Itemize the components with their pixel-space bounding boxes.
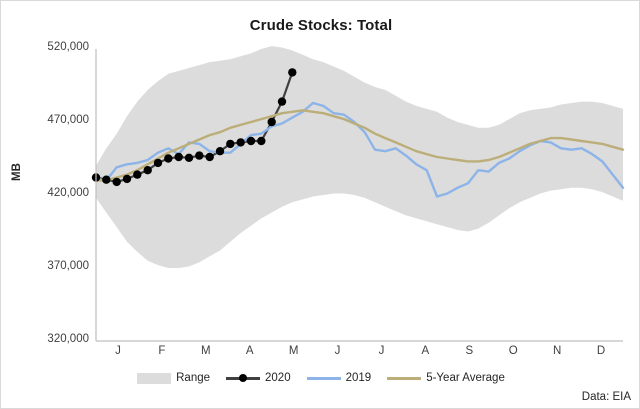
data-point-marker-2020 bbox=[175, 153, 183, 161]
legend-marker-dot bbox=[239, 374, 247, 382]
data-point-marker-2020 bbox=[113, 178, 121, 186]
data-point-marker-2020 bbox=[195, 151, 203, 159]
data-point-marker-2020 bbox=[164, 154, 172, 162]
data-point-marker-2020 bbox=[237, 138, 245, 146]
chart-legend: Range202020195-Year Average bbox=[1, 372, 640, 384]
legend-label: 2019 bbox=[346, 372, 372, 384]
x-axis-tick-label: A bbox=[413, 345, 437, 357]
x-axis-tick-label: S bbox=[457, 345, 481, 357]
data-point-marker-2020 bbox=[268, 118, 276, 126]
legend-item-2019[interactable]: 2019 bbox=[307, 372, 372, 384]
legend-swatch-line-marker-swatch bbox=[226, 372, 260, 384]
data-point-marker-2020 bbox=[288, 68, 296, 76]
data-point-marker-2020 bbox=[154, 159, 162, 167]
legend-swatch-range-swatch bbox=[137, 372, 171, 384]
legend-swatch-line-swatch bbox=[307, 372, 341, 384]
chart-container: Crude Stocks: Total 320,000370,000420,00… bbox=[0, 0, 640, 409]
data-point-marker-2020 bbox=[257, 137, 265, 145]
x-axis-tick-label: O bbox=[501, 345, 525, 357]
data-source-note: Data: EIA bbox=[582, 391, 631, 403]
legend-swatch-line-swatch bbox=[387, 372, 421, 384]
x-axis-tick-label: J bbox=[106, 345, 130, 357]
legend-item-range[interactable]: Range bbox=[137, 372, 210, 384]
x-axis-tick-label: M bbox=[194, 345, 218, 357]
legend-label: Range bbox=[176, 372, 210, 384]
x-axis-tick-label: J bbox=[369, 345, 393, 357]
legend-label: 5-Year Average bbox=[426, 372, 505, 384]
legend-line-swatch bbox=[307, 377, 341, 380]
data-point-marker-2020 bbox=[133, 170, 141, 178]
x-axis-tick-label: M bbox=[282, 345, 306, 357]
data-point-marker-2020 bbox=[278, 97, 286, 105]
data-point-marker-2020 bbox=[123, 175, 131, 183]
data-point-marker-2020 bbox=[216, 147, 224, 155]
legend-item-2020[interactable]: 2020 bbox=[226, 372, 291, 384]
data-point-marker-2020 bbox=[102, 176, 110, 184]
data-point-marker-2020 bbox=[206, 153, 214, 161]
legend-line-swatch bbox=[387, 377, 421, 380]
data-point-marker-2020 bbox=[144, 166, 152, 174]
legend-label: 2020 bbox=[265, 372, 291, 384]
x-axis-tick-label: F bbox=[150, 345, 174, 357]
data-point-marker-2020 bbox=[247, 137, 255, 145]
x-axis-tick-label: A bbox=[238, 345, 262, 357]
data-point-marker-2020 bbox=[185, 154, 193, 162]
data-point-marker-2020 bbox=[226, 140, 234, 148]
x-axis-tick-label: D bbox=[589, 345, 613, 357]
legend-range-swatch bbox=[137, 373, 171, 384]
x-axis-tick-label: J bbox=[326, 345, 350, 357]
x-axis-tick-label: N bbox=[545, 345, 569, 357]
legend-item-5-year-average[interactable]: 5-Year Average bbox=[387, 372, 505, 384]
